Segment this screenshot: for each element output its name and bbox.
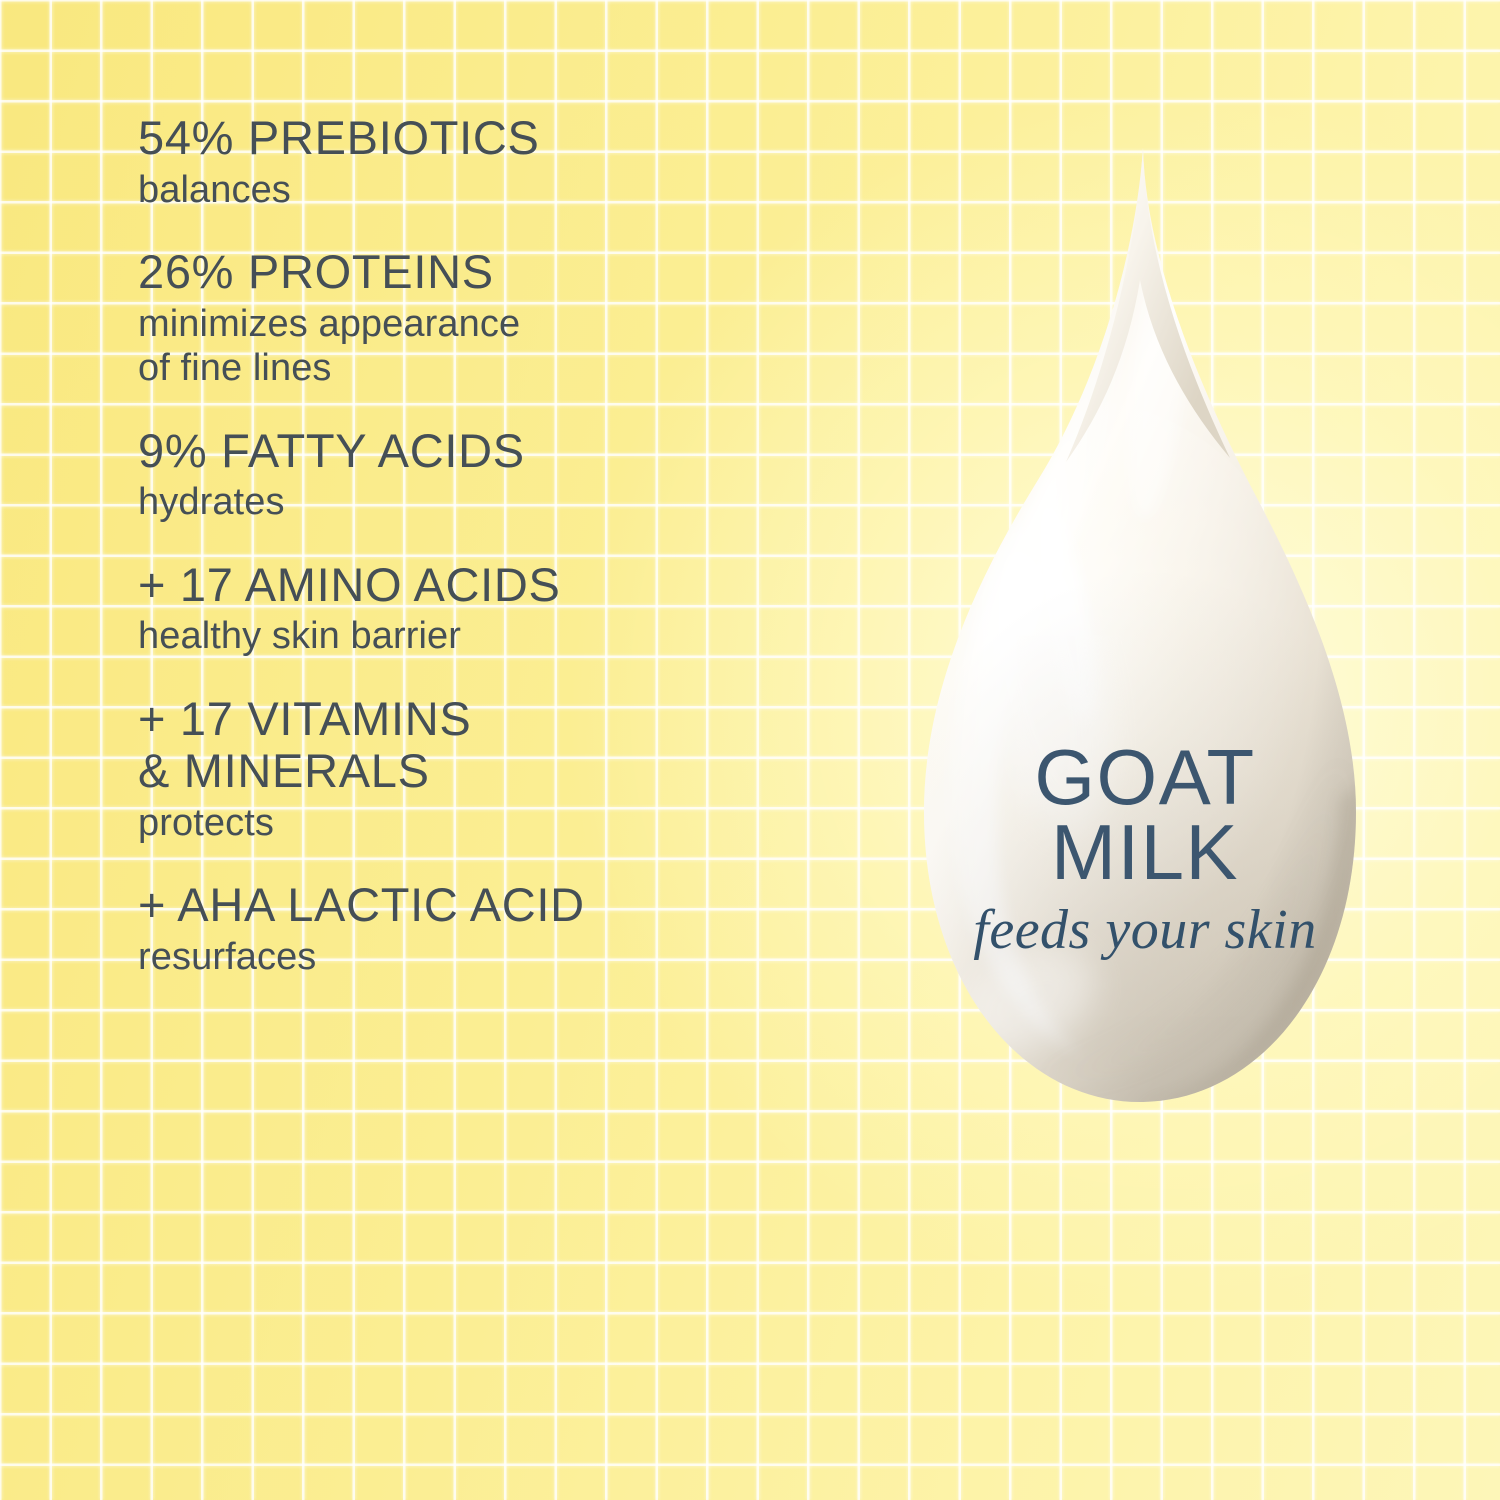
ingredient-benefit: minimizes appearance of fine lines [138, 302, 838, 391]
ingredient-item-proteins: 26% PROTEINS minimizes appearance of fin… [138, 246, 838, 391]
milk-droplet-illustration [828, 140, 1468, 1210]
droplet-icon [828, 140, 1468, 1210]
ingredient-item-fatty-acids: 9% FATTY ACIDS hydrates [138, 425, 838, 525]
ingredient-heading: 26% PROTEINS [138, 246, 838, 299]
ingredient-list: 54% PREBIOTICS balances 26% PROTEINS min… [138, 112, 838, 980]
ingredient-benefit: healthy skin barrier [138, 614, 838, 658]
ingredient-heading: + 17 AMINO ACIDS [138, 559, 838, 612]
ingredient-heading: + AHA LACTIC ACID [138, 879, 838, 932]
ingredient-heading: + 17 VITAMINS & MINERALS [138, 693, 838, 798]
ingredient-benefit: balances [138, 168, 838, 212]
infographic-canvas: 54% PREBIOTICS balances 26% PROTEINS min… [0, 0, 1500, 1500]
ingredient-heading: 54% PREBIOTICS [138, 112, 838, 165]
ingredient-item-prebiotics: 54% PREBIOTICS balances [138, 112, 838, 212]
ingredient-item-amino-acids: + 17 AMINO ACIDS healthy skin barrier [138, 559, 838, 659]
ingredient-item-aha-lactic-acid: + AHA LACTIC ACID resurfaces [138, 879, 838, 979]
ingredient-heading: 9% FATTY ACIDS [138, 425, 838, 478]
ingredient-benefit: resurfaces [138, 935, 838, 979]
ingredient-item-vitamins-minerals: + 17 VITAMINS & MINERALS protects [138, 693, 838, 846]
ingredient-benefit: hydrates [138, 480, 838, 524]
ingredient-benefit: protects [138, 801, 838, 845]
